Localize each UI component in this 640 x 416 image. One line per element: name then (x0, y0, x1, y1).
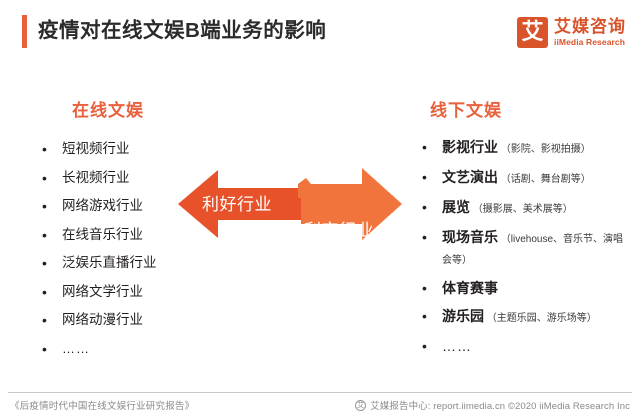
list-item-label: 展览 （摄影展、美术展等） (442, 198, 632, 219)
bullet-dot-icon: • (420, 279, 442, 297)
bullet-dot-icon: • (40, 169, 62, 187)
slide-header: 疫情对在线文娱B端业务的影响 艾 艾媒咨询 iiMedia Research (0, 0, 640, 64)
page-title: 疫情对在线文娱B端业务的影响 (38, 14, 326, 48)
list-item-label: 体育赛事 (442, 279, 632, 298)
footer-divider (8, 392, 632, 393)
bullet-dot-icon: • (40, 283, 62, 301)
arrow-group: 利好行业 利空行业 (170, 158, 410, 258)
list-item-label: 短视频行业 (62, 140, 230, 158)
list-item: •…… (420, 337, 632, 356)
bullet-dot-icon: • (40, 197, 62, 215)
list-item: •展览 （摄影展、美术展等） (420, 198, 632, 219)
list-item-label: 网络动漫行业 (62, 311, 230, 329)
list-item-note: （话剧、舞台剧等） (498, 174, 591, 185)
footer-meta-text: 艾媒报告中心: report.iimedia.cn ©2020 iiMedia … (370, 398, 630, 412)
brand-name-cn: 艾媒咨询 (554, 18, 626, 35)
bullet-dot-icon: • (40, 140, 62, 158)
bullet-dot-icon: • (420, 198, 442, 216)
list-item: •文艺演出 （话剧、舞台剧等） (420, 168, 632, 189)
bullet-dot-icon: • (40, 254, 62, 272)
bullet-dot-icon: • (420, 337, 442, 355)
list-item: •短视频行业 (40, 140, 230, 158)
list-item: •体育赛事 (420, 279, 632, 298)
bullet-dot-icon: • (420, 138, 442, 156)
list-item-label: 游乐园 （主题乐园、游乐场等） (442, 307, 632, 328)
list-item-label: …… (442, 337, 632, 356)
list-item-label: 文艺演出 （话剧、舞台剧等） (442, 168, 632, 189)
footer-report-title: 《后疫情时代中国在线文娱行业研究报告》 (10, 398, 194, 412)
brand-text: 艾媒咨询 iiMedia Research (554, 18, 626, 47)
bullet-dot-icon: • (420, 228, 442, 246)
list-item-note: （摄影展、美术展等） (470, 204, 573, 215)
bullet-dot-icon: • (420, 168, 442, 186)
list-item: •影视行业 （影院、影视拍摄） (420, 138, 632, 159)
bullet-dot-icon: • (420, 307, 442, 325)
right-column-heading: 线下文娱 (430, 96, 502, 121)
bullet-dot-icon: • (40, 311, 62, 329)
list-item: •现场音乐 （livehouse、音乐节、演唱会等） (420, 228, 632, 270)
left-column-heading: 在线文娱 (72, 96, 144, 121)
list-item: •网络文学行业 (40, 283, 230, 301)
list-item-note: （影院、影视拍摄） (498, 144, 591, 155)
brand-name-en: iiMedia Research (554, 38, 626, 47)
right-column-list: •影视行业 （影院、影视拍摄）•文艺演出 （话剧、舞台剧等）•展览 （摄影展、美… (420, 138, 632, 365)
slide-canvas: 疫情对在线文娱B端业务的影响 艾 艾媒咨询 iiMedia Research 在… (0, 0, 640, 416)
right-arrow-label: 利空行业 (304, 216, 374, 241)
footer-badge-icon: 艾 (355, 400, 366, 411)
list-item-label: 网络文学行业 (62, 283, 230, 301)
left-arrow-label: 利好行业 (202, 190, 272, 215)
brand-logo: 艾 艾媒咨询 iiMedia Research (517, 14, 626, 50)
brand-mark-icon: 艾 (517, 17, 548, 48)
list-item-note: （主题乐园、游乐场等） (484, 313, 597, 324)
list-item: •游乐园 （主题乐园、游乐场等） (420, 307, 632, 328)
list-item-label: …… (62, 340, 230, 358)
list-item-label: 影视行业 （影院、影视拍摄） (442, 138, 632, 159)
list-item: •网络动漫行业 (40, 311, 230, 329)
footer-meta: 艾 艾媒报告中心: report.iimedia.cn ©2020 iiMedi… (355, 398, 630, 412)
bullet-dot-icon: • (40, 340, 62, 358)
list-item-note: （livehouse、音乐节、演唱会等） (442, 234, 623, 266)
list-item-label: 现场音乐 （livehouse、音乐节、演唱会等） (442, 228, 632, 270)
bullet-dot-icon: • (40, 226, 62, 244)
title-accent-bar (22, 15, 27, 48)
list-item: •…… (40, 340, 230, 358)
